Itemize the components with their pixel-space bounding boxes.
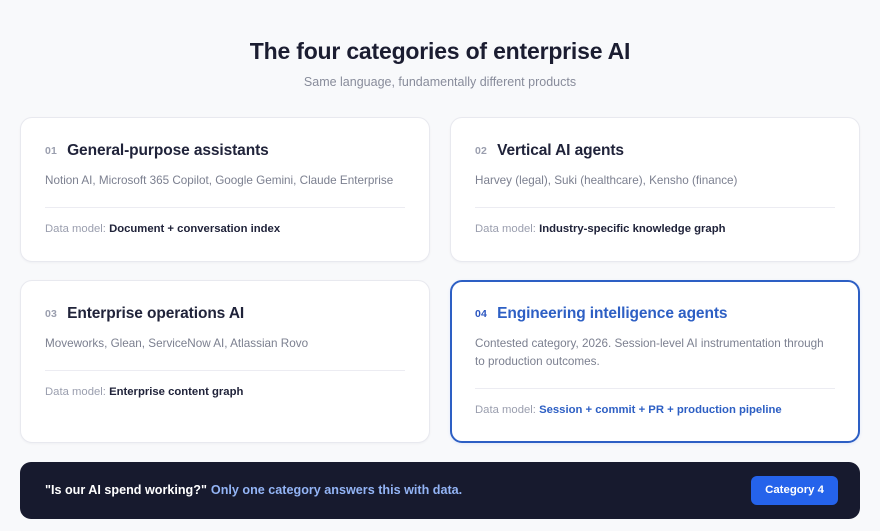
data-model-label: Data model: bbox=[475, 223, 536, 235]
card-title: General-purpose assistants bbox=[67, 140, 269, 161]
card-number: 02 bbox=[475, 145, 487, 157]
card-header: 04 Engineering intelligence agents bbox=[475, 303, 835, 324]
card-divider bbox=[45, 370, 405, 371]
category-card-grid: 01 General-purpose assistants Notion AI,… bbox=[20, 117, 860, 443]
banner-text: "Is our AI spend working?"Only one categ… bbox=[45, 482, 462, 499]
data-model-value: Enterprise content graph bbox=[109, 386, 243, 398]
card-divider bbox=[45, 207, 405, 208]
page-title: The four categories of enterprise AI bbox=[20, 36, 860, 66]
data-model-label: Data model: bbox=[45, 386, 106, 398]
card-divider bbox=[475, 388, 835, 389]
category-card-04[interactable]: 04 Engineering intelligence agents Conte… bbox=[450, 280, 860, 443]
page-root: The four categories of enterprise AI Sam… bbox=[0, 0, 880, 531]
category-card-03[interactable]: 03 Enterprise operations AI Moveworks, G… bbox=[20, 280, 430, 443]
summary-banner: "Is our AI spend working?"Only one categ… bbox=[20, 462, 860, 519]
card-spacer bbox=[45, 400, 405, 418]
data-model-label: Data model: bbox=[45, 223, 106, 235]
card-description: Notion AI, Microsoft 365 Copilot, Google… bbox=[45, 172, 405, 190]
card-title: Engineering intelligence agents bbox=[497, 303, 727, 324]
card-data-model: Data model: Document + conversation inde… bbox=[45, 221, 405, 237]
card-title: Enterprise operations AI bbox=[67, 303, 244, 324]
card-description: Moveworks, Glean, ServiceNow AI, Atlassi… bbox=[45, 335, 405, 353]
card-description: Contested category, 2026. Session-level … bbox=[475, 335, 835, 371]
card-data-model: Data model: Session + commit + PR + prod… bbox=[475, 402, 835, 418]
category-card-01[interactable]: 01 General-purpose assistants Notion AI,… bbox=[20, 117, 430, 262]
card-divider bbox=[475, 207, 835, 208]
page-subtitle: Same language, fundamentally different p… bbox=[20, 74, 860, 91]
page-header: The four categories of enterprise AI Sam… bbox=[20, 0, 860, 91]
card-title: Vertical AI agents bbox=[497, 140, 624, 161]
card-header: 01 General-purpose assistants bbox=[45, 140, 405, 161]
card-number: 03 bbox=[45, 308, 57, 320]
card-header: 03 Enterprise operations AI bbox=[45, 303, 405, 324]
data-model-label: Data model: bbox=[475, 404, 536, 416]
card-data-model: Data model: Enterprise content graph bbox=[45, 384, 405, 400]
data-model-value: Document + conversation index bbox=[109, 223, 280, 235]
banner-emphasis: Only one category answers this with data… bbox=[211, 483, 462, 497]
card-header: 02 Vertical AI agents bbox=[475, 140, 835, 161]
card-data-model: Data model: Industry-specific knowledge … bbox=[475, 221, 835, 237]
category-4-badge-button[interactable]: Category 4 bbox=[751, 476, 838, 505]
card-number: 01 bbox=[45, 145, 57, 157]
data-model-value: Session + commit + PR + production pipel… bbox=[539, 404, 782, 416]
category-card-02[interactable]: 02 Vertical AI agents Harvey (legal), Su… bbox=[450, 117, 860, 262]
card-number: 04 bbox=[475, 308, 487, 320]
card-description: Harvey (legal), Suki (healthcare), Kensh… bbox=[475, 172, 835, 190]
data-model-value: Industry-specific knowledge graph bbox=[539, 223, 725, 235]
banner-quote: "Is our AI spend working?" bbox=[45, 483, 207, 497]
